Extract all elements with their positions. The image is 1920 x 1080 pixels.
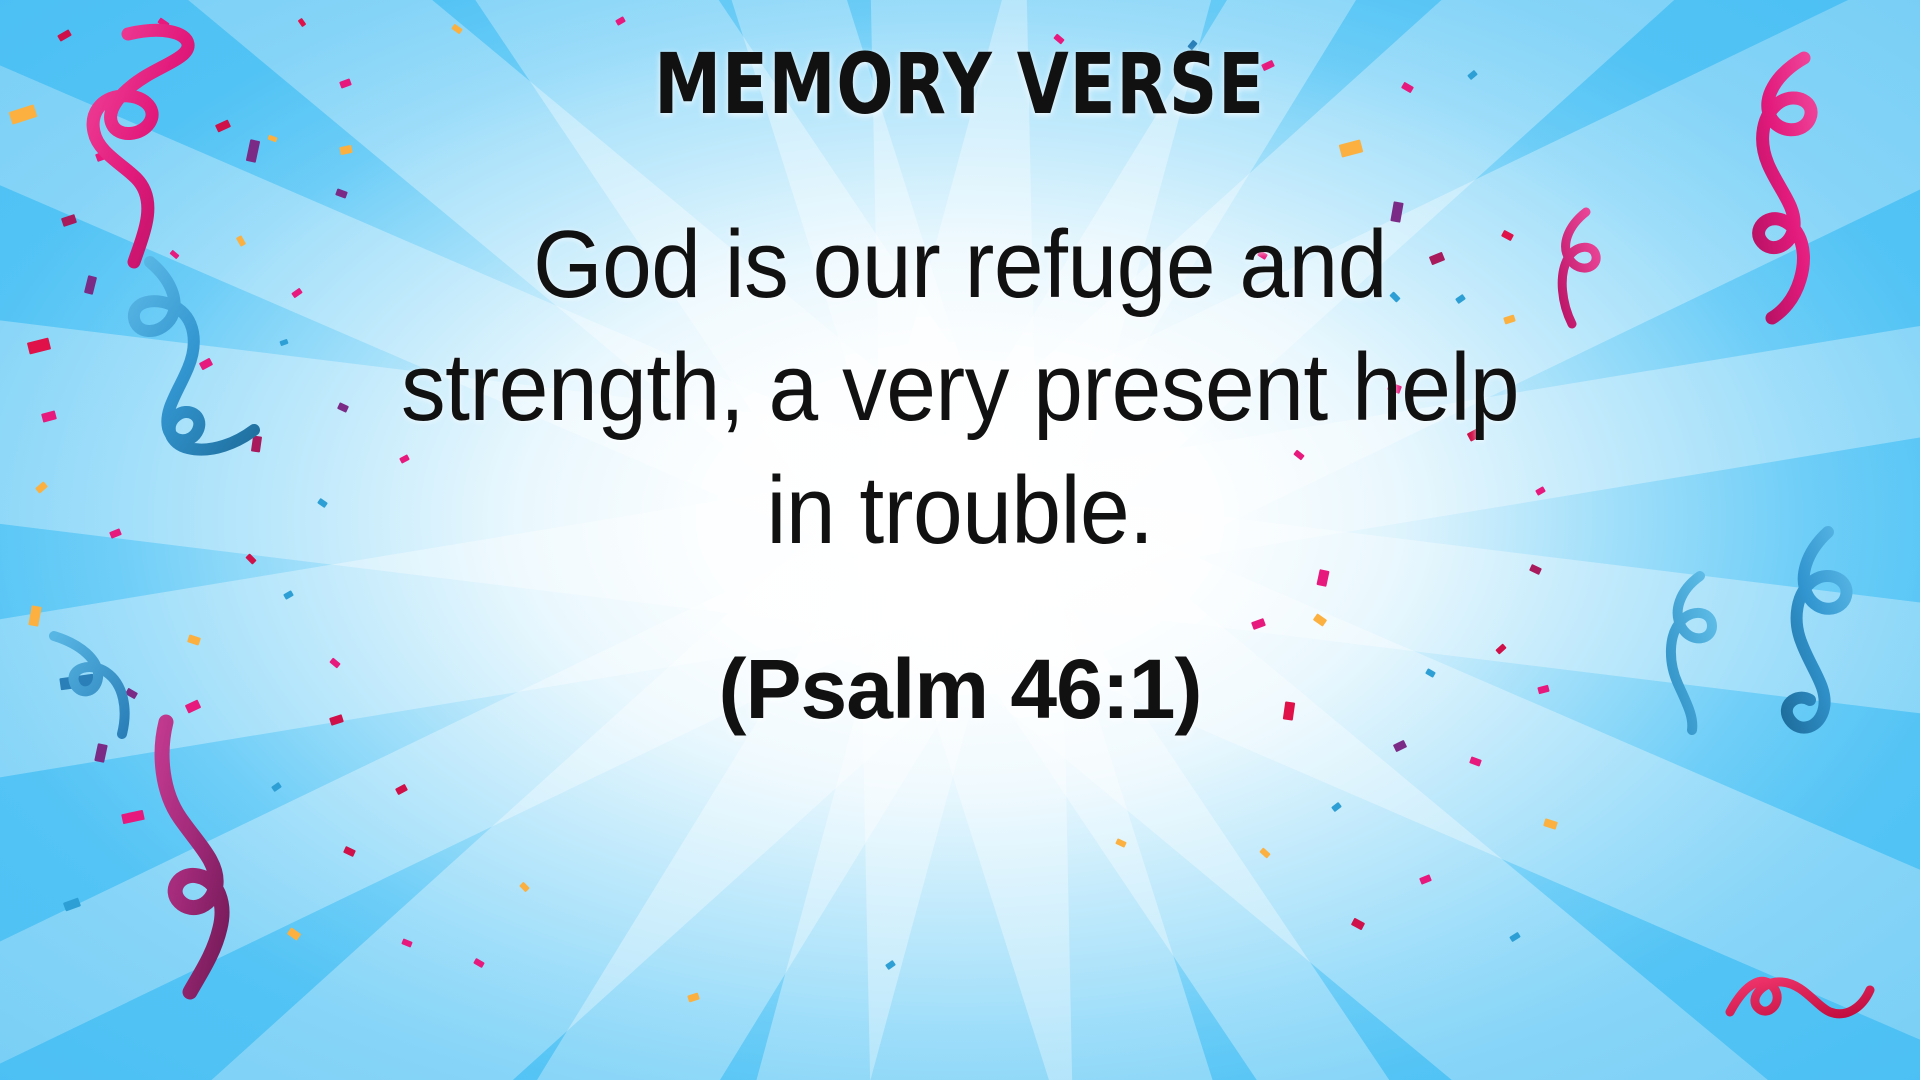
verse-line-1: God is our refuge and <box>263 204 1658 327</box>
slide-canvas: MEMORY VERSE God is our refuge and stren… <box>0 0 1920 1080</box>
slide-content: MEMORY VERSE God is our refuge and stren… <box>0 0 1920 1080</box>
page-title: MEMORY VERSE <box>655 42 1265 126</box>
verse-text: God is our refuge and strength, a very p… <box>263 204 1658 573</box>
verse-line-3: in trouble. <box>263 450 1658 573</box>
verse-reference: (Psalm 46:1) <box>719 647 1202 731</box>
verse-line-2: strength, a very present help <box>263 327 1658 450</box>
